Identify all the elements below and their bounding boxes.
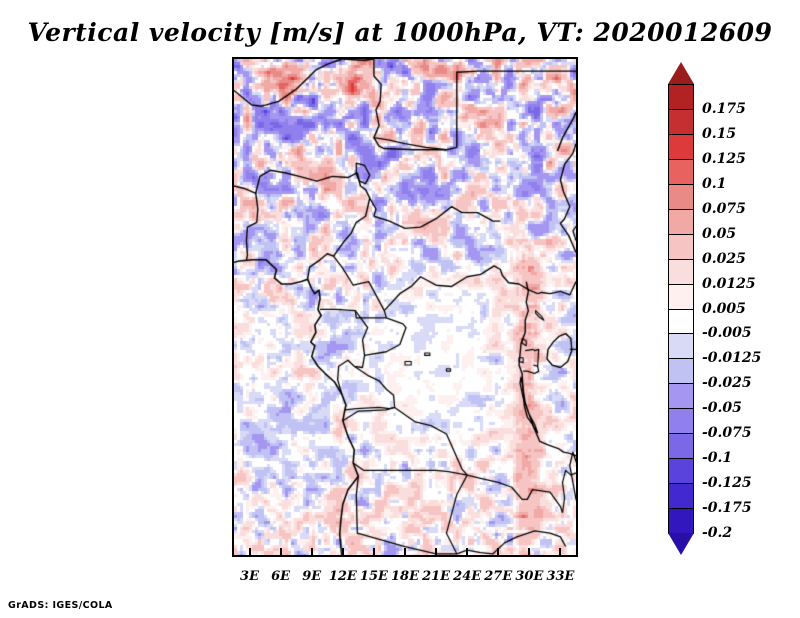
colorbar-label: -0.1 <box>702 450 732 466</box>
grads-credit: GrADS: IGES/COLA <box>8 600 113 611</box>
grads-plot-page: Vertical velocity [m/s] at 1000hPa, VT: … <box>0 0 800 618</box>
map-plot-area[interactable]: 20N15N10N5NEQ5S10S15S <box>232 57 578 557</box>
x-axis-tick <box>311 548 313 555</box>
x-axis-label: 9E <box>302 569 321 584</box>
x-axis-tick <box>373 548 375 555</box>
page-title: Vertical velocity [m/s] at 1000hPa, VT: … <box>0 18 800 47</box>
x-axis-label: 33E <box>546 569 574 584</box>
x-axis-tick <box>559 548 561 555</box>
colorbar-label: 0.05 <box>702 226 736 242</box>
x-axis-label: 12E <box>329 569 357 584</box>
x-axis-label: 30E <box>515 569 543 584</box>
x-axis-tick <box>404 548 406 555</box>
colorbar-label: 0.125 <box>702 151 746 167</box>
x-axis-tick <box>280 548 282 555</box>
colorbar-label: 0.005 <box>702 301 746 317</box>
colorbar-label: 0.075 <box>702 201 746 217</box>
x-axis-label: 15E <box>360 569 388 584</box>
x-axis <box>234 59 576 555</box>
x-axis-tick <box>435 548 437 555</box>
x-axis-tick <box>528 548 530 555</box>
colorbar-label: 0.175 <box>702 101 746 117</box>
colorbar-label: -0.2 <box>702 525 732 541</box>
x-axis-tick <box>466 548 468 555</box>
colorbar-label: -0.075 <box>702 425 752 441</box>
x-axis-tick <box>249 548 251 555</box>
colorbar: 0.1750.150.1250.10.0750.050.0250.01250.0… <box>668 62 694 555</box>
x-axis-label: 3E <box>240 569 259 584</box>
colorbar-label: -0.175 <box>702 500 752 516</box>
colorbar-label: -0.025 <box>702 375 752 391</box>
colorbar-label: -0.125 <box>702 475 752 491</box>
colorbar-label: 0.15 <box>702 126 736 142</box>
colorbar-label: -0.05 <box>702 400 742 416</box>
x-axis-tick <box>342 548 344 555</box>
x-axis-label: 27E <box>484 569 512 584</box>
x-axis-label: 18E <box>391 569 419 584</box>
x-axis-label: 21E <box>422 569 450 584</box>
colorbar-label: 0.0125 <box>702 276 756 292</box>
colorbar-label: 0.1 <box>702 176 726 192</box>
colorbar-label: -0.005 <box>702 325 752 341</box>
colorbar-label: 0.025 <box>702 251 746 267</box>
x-axis-tick <box>497 548 499 555</box>
colorbar-label: -0.0125 <box>702 350 761 366</box>
x-axis-label: 6E <box>271 569 290 584</box>
x-axis-label: 24E <box>453 569 481 584</box>
colorbar-tick-labels: 0.1750.150.1250.10.0750.050.0250.01250.0… <box>668 62 694 555</box>
